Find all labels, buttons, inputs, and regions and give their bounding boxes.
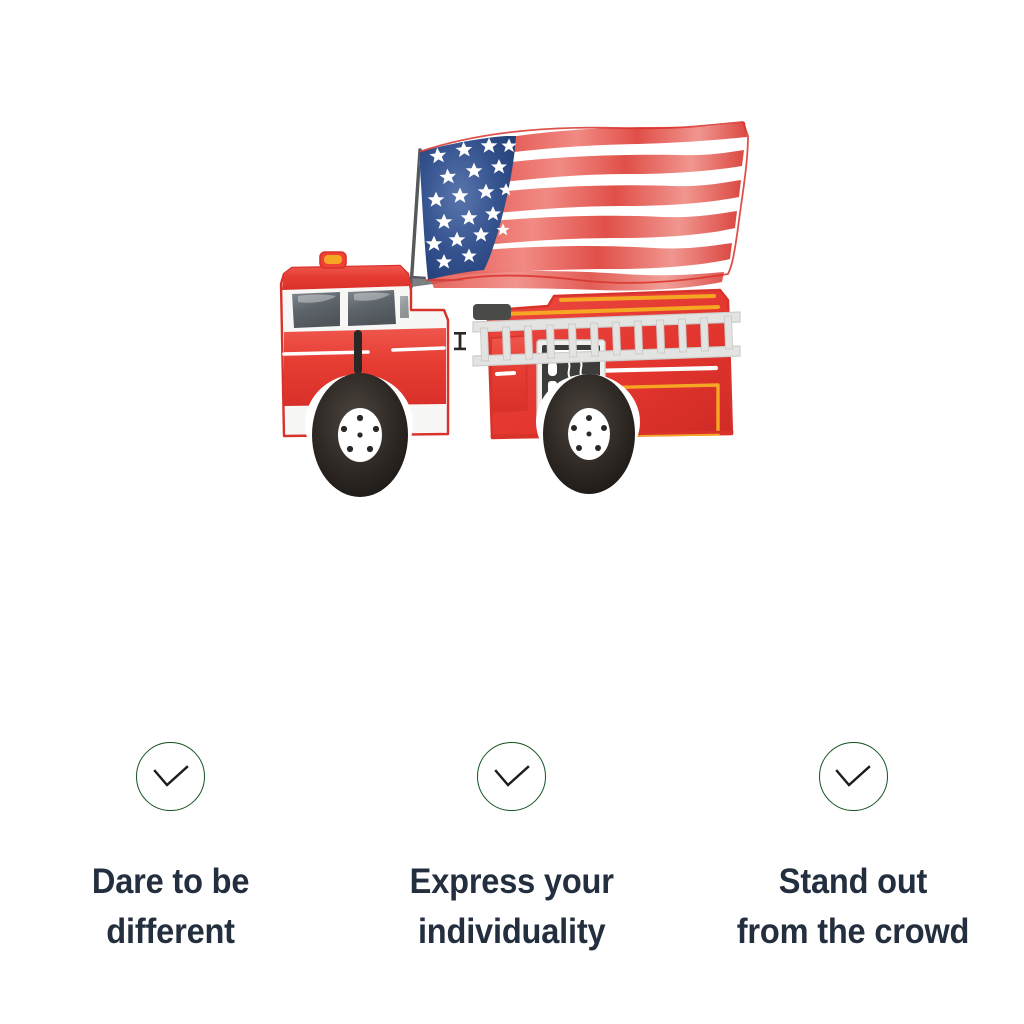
benefit-label: Stand out from the crowd xyxy=(737,857,970,957)
benefit-label: Express your individuality xyxy=(410,857,614,957)
benefit-label: Dare to be different xyxy=(92,857,249,957)
page-root: Dare to be different Express your indivi… xyxy=(0,0,1024,1024)
fire-truck-group xyxy=(281,252,740,497)
check-circle-icon xyxy=(136,742,205,811)
benefit-item-stand-out-from-the-crowd: Stand out from the crowd xyxy=(683,742,1024,957)
check-circle-icon xyxy=(477,742,546,811)
front-wheel xyxy=(312,373,408,497)
check-circle-icon xyxy=(819,742,888,811)
benefit-item-dare-to-be-different: Dare to be different xyxy=(0,742,341,957)
truck-side-marking xyxy=(454,332,466,350)
rear-wheel xyxy=(543,374,635,494)
benefits-row: Dare to be different Express your indivi… xyxy=(0,742,1024,957)
american-flag-group xyxy=(419,122,748,291)
hero-illustration xyxy=(248,104,776,504)
benefit-item-express-your-individuality: Express your individuality xyxy=(341,742,682,957)
